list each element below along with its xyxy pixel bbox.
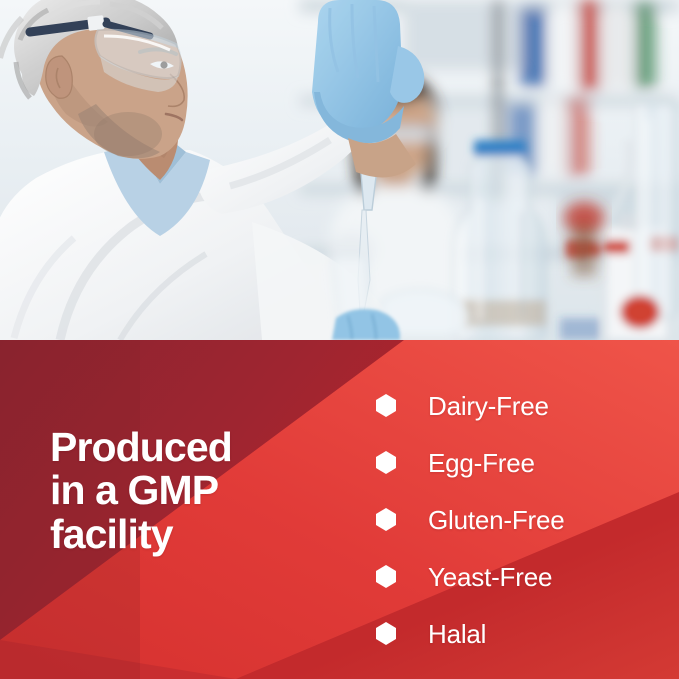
list-item: Egg-Free: [376, 434, 565, 491]
list-item: Dairy-Free: [376, 377, 565, 434]
hexagon-bullet-icon: [376, 508, 396, 531]
feature-label-gluten-free: Gluten-Free: [428, 507, 565, 533]
laboratory-photo: [0, 0, 679, 340]
headline-line-2: in a GMP: [50, 469, 340, 512]
list-item: Gluten-Free: [376, 491, 565, 548]
gmp-facility-banner: Produced in a GMP facility Dairy-Free Eg…: [0, 0, 679, 679]
feature-label-yeast-free: Yeast-Free: [428, 564, 552, 590]
headline-line-1: Produced: [50, 426, 340, 469]
headline-line-3: facility: [50, 513, 340, 556]
page-title: Produced in a GMP facility: [50, 426, 340, 556]
list-item: Halal: [376, 605, 565, 662]
hexagon-bullet-icon: [376, 394, 396, 417]
gmp-info-panel: Produced in a GMP facility Dairy-Free Eg…: [0, 340, 679, 679]
feature-label-dairy-free: Dairy-Free: [428, 393, 549, 419]
hexagon-bullet-icon: [376, 451, 396, 474]
hexagon-bullet-icon: [376, 622, 396, 645]
hexagon-bullet-icon: [376, 565, 396, 588]
feature-label-halal: Halal: [428, 621, 486, 647]
list-item: Yeast-Free: [376, 548, 565, 605]
laboratory-photo-illustration: [0, 0, 679, 340]
free-from-claims-list: Dairy-Free Egg-Free Gluten-Free Yeast-Fr…: [376, 377, 565, 662]
feature-label-egg-free: Egg-Free: [428, 450, 535, 476]
